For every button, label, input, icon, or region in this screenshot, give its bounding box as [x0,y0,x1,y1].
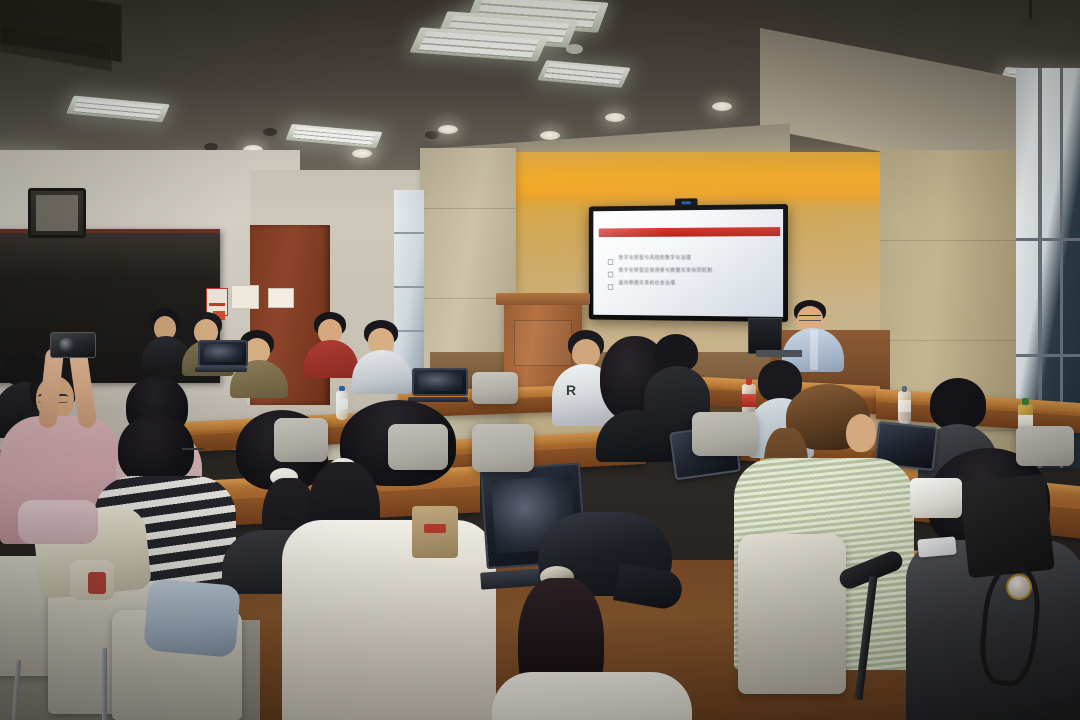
ceiling-speaker-icon [1021,18,1039,27]
ceiling-speaker-icon [425,131,439,139]
presenter-monitor [748,318,782,354]
jacket-logo-icon [88,572,106,594]
draped-jacket-blue [143,578,241,658]
audience-man-light-shirt [352,320,410,392]
display-camera-bar [675,198,698,206]
laptop-mid-row[interactable] [412,368,464,402]
black-handbag [959,474,1055,578]
laptop-back-row[interactable] [198,340,244,372]
shirt-graphic-letter: R [566,382,578,398]
ceiling-speaker-icon [263,128,277,136]
presenter-monitor-stand [756,350,802,357]
glasses-icon [799,315,821,321]
door-notice [268,288,294,308]
downlight-icon [712,102,732,111]
compact-camera[interactable] [50,332,96,358]
downlight-icon [352,149,372,158]
audience-man-red-shirt [306,312,356,376]
ceiling-light-troffer [537,60,631,88]
tissue-pack [910,478,962,518]
wall-clock [28,188,86,238]
ceiling-sensor-icon [566,44,583,54]
smartphone-on-desk[interactable] [917,536,956,557]
ceiling-light-troffer [66,96,170,123]
shadow-band [0,400,1080,460]
downlight-icon [605,113,625,122]
screen-glare [593,209,783,317]
photo-scene: 数字化转型与风险的数字化治理 数字化转型应用场景与数据共享协同机制 面向数据共享… [0,0,1080,720]
audience-person-black-cap [492,512,682,720]
chair-foreground-right[interactable] [738,534,846,694]
cap-brim [613,563,685,612]
slide-content: 数字化转型与风险的数字化治理 数字化转型应用场景与数据共享协同机制 面向数据共享… [593,209,783,317]
ceiling-light-troffer [285,124,382,148]
patch-logo-icon [424,524,446,533]
cove-light-glow [500,148,920,202]
keychain-charm [1008,576,1030,598]
notice-sign [231,285,259,309]
draped-cloth-pink [18,500,98,544]
downlight-icon [438,125,458,134]
presentation-display[interactable]: 数字化转型与风险的数字化治理 数字化转型应用场景与数据共享协同机制 面向数据共享… [589,204,788,322]
chair-leg [102,648,107,720]
